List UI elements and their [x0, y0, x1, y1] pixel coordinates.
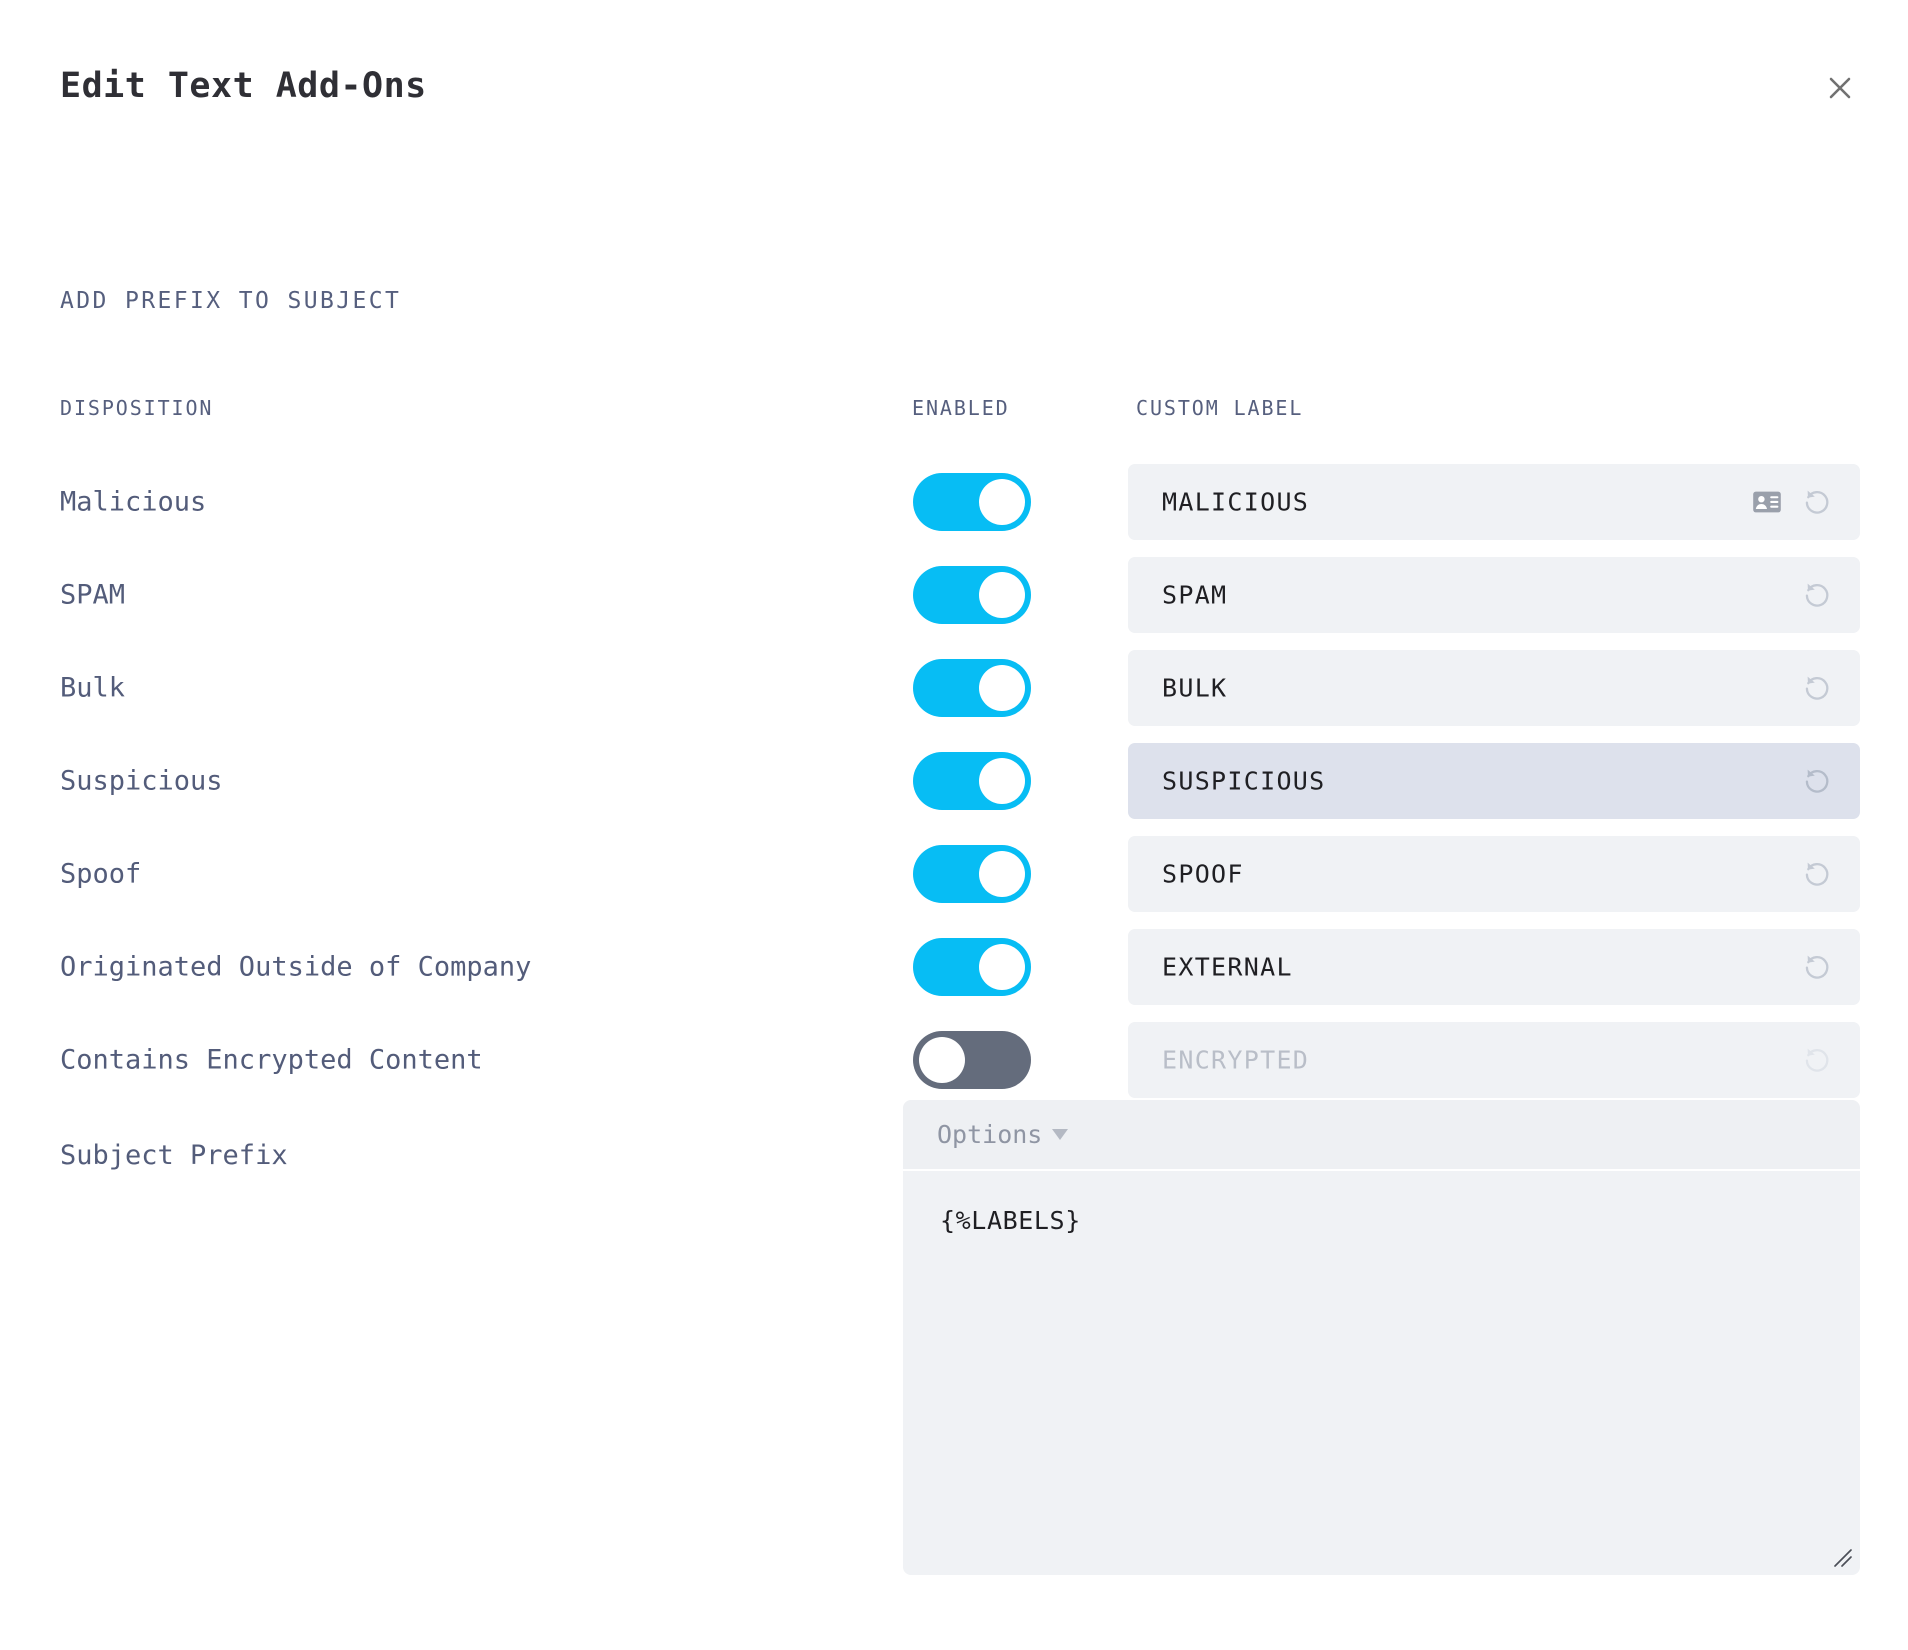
reset-icon[interactable] — [1800, 578, 1834, 612]
field-actions — [1800, 578, 1834, 612]
field-actions — [1800, 950, 1834, 984]
custom-label-field[interactable]: BULK — [1128, 650, 1860, 726]
options-label: Options — [937, 1120, 1042, 1149]
disposition-label: Originated Outside of Company — [60, 951, 531, 982]
table-row: Originated Outside of Company EXTERNAL — [0, 920, 1908, 1013]
disposition-rows: Malicious MALICIOUS — [0, 455, 1908, 1106]
enabled-toggle[interactable] — [913, 659, 1031, 717]
enabled-toggle[interactable] — [913, 845, 1031, 903]
enabled-toggle[interactable] — [913, 938, 1031, 996]
custom-label-value: MALICIOUS — [1162, 487, 1309, 516]
field-actions — [1800, 764, 1834, 798]
close-icon — [1824, 72, 1856, 104]
custom-label-value: SPOOF — [1162, 859, 1244, 888]
field-actions — [1800, 857, 1834, 891]
disposition-label: Suspicious — [60, 765, 223, 796]
enabled-toggle[interactable] — [913, 473, 1031, 531]
field-actions — [1800, 1043, 1834, 1077]
dialog-header: Edit Text Add-Ons — [0, 48, 1908, 128]
custom-label-field[interactable]: SPOOF — [1128, 836, 1860, 912]
resize-grip-icon[interactable] — [1831, 1546, 1853, 1568]
disposition-label: SPAM — [60, 579, 125, 610]
enabled-toggle[interactable] — [913, 1031, 1031, 1089]
custom-label-value: BULK — [1162, 673, 1227, 702]
custom-label-field[interactable]: SPAM — [1128, 557, 1860, 633]
custom-label-value: SPAM — [1162, 580, 1227, 609]
chevron-down-icon — [1052, 1129, 1068, 1140]
disposition-label: Contains Encrypted Content — [60, 1044, 483, 1075]
options-dropdown-button[interactable]: Options — [937, 1120, 1068, 1149]
enabled-toggle[interactable] — [913, 752, 1031, 810]
editor-textarea[interactable]: {%LABELS} — [903, 1171, 1860, 1575]
custom-label-field[interactable]: MALICIOUS — [1128, 464, 1860, 540]
subject-prefix-editor: Options {%LABELS} — [903, 1100, 1860, 1575]
table-row: SPAM SPAM — [0, 548, 1908, 641]
reset-icon[interactable] — [1800, 764, 1834, 798]
field-actions — [1750, 485, 1834, 519]
column-header-disposition: DISPOSITION — [60, 396, 213, 420]
contact-card-icon[interactable] — [1750, 485, 1784, 519]
close-button[interactable] — [1816, 64, 1864, 112]
table-row: Suspicious SUSPICIOUS — [0, 734, 1908, 827]
disposition-label: Bulk — [60, 672, 125, 703]
custom-label-field[interactable]: SUSPICIOUS — [1128, 743, 1860, 819]
table-row: Spoof SPOOF — [0, 827, 1908, 920]
reset-icon[interactable] — [1800, 857, 1834, 891]
table-row: Bulk BULK — [0, 641, 1908, 734]
column-header-custom-label: CUSTOM LABEL — [1136, 396, 1303, 420]
custom-label-field: ENCRYPTED — [1128, 1022, 1860, 1098]
page-title: Edit Text Add-Ons — [60, 66, 427, 106]
disposition-label: Malicious — [60, 486, 206, 517]
editor-toolbar: Options — [903, 1100, 1860, 1169]
table-row: Malicious MALICIOUS — [0, 455, 1908, 548]
section-title: ADD PREFIX TO SUBJECT — [60, 288, 401, 314]
field-actions — [1800, 671, 1834, 705]
reset-icon[interactable] — [1800, 671, 1834, 705]
editor-text-value: {%LABELS} — [940, 1206, 1081, 1235]
reset-icon — [1800, 1043, 1834, 1077]
custom-label-value: SUSPICIOUS — [1162, 766, 1326, 795]
reset-icon[interactable] — [1800, 950, 1834, 984]
subject-prefix-label: Subject Prefix — [60, 1140, 288, 1171]
disposition-label: Spoof — [60, 858, 141, 889]
edit-text-addons-dialog: Edit Text Add-Ons ADD PREFIX TO SUBJECT … — [0, 0, 1908, 1650]
reset-icon[interactable] — [1800, 485, 1834, 519]
enabled-toggle[interactable] — [913, 566, 1031, 624]
custom-label-value: EXTERNAL — [1162, 952, 1293, 981]
table-row: Contains Encrypted Content ENCRYPTED — [0, 1013, 1908, 1106]
custom-label-value: ENCRYPTED — [1162, 1045, 1309, 1074]
column-header-enabled: ENABLED — [912, 396, 1010, 420]
custom-label-field[interactable]: EXTERNAL — [1128, 929, 1860, 1005]
